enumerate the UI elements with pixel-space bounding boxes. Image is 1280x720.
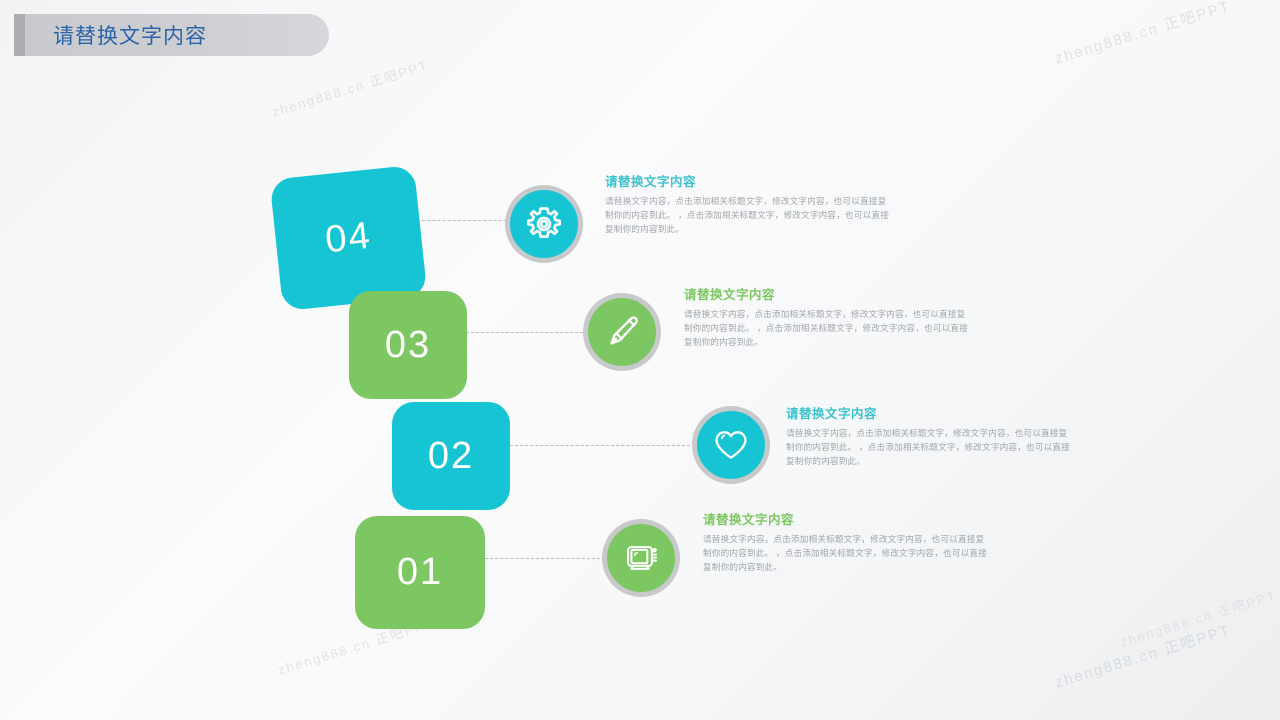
- icon-circle-01[interactable]: [602, 519, 680, 597]
- text-block-04: 请替换文字内容 请替换文字内容，点击添加相关标题文字，修改文字内容，也可以直接复…: [605, 171, 893, 237]
- step-number-04: 04: [323, 214, 374, 262]
- text-heading-03: 请替换文字内容: [684, 284, 972, 303]
- step-box-04[interactable]: 04: [269, 165, 427, 311]
- text-heading-01: 请替换文字内容: [703, 509, 991, 528]
- text-block-03: 请替换文字内容 请替换文字内容，点击添加相关标题文字，修改文字内容，也可以直接复…: [684, 284, 972, 350]
- step-number-01: 01: [397, 551, 443, 594]
- connector-line-02: [510, 445, 690, 446]
- text-body-04: 请替换文字内容，点击添加相关标题文字，修改文字内容，也可以直接复制你的内容到此。…: [605, 195, 893, 237]
- step-box-02[interactable]: 02: [392, 402, 510, 510]
- text-heading-02: 请替换文字内容: [786, 403, 1074, 422]
- icon-circle-04[interactable]: [505, 185, 583, 263]
- slide-canvas: 04 03 02 01: [0, 0, 1280, 720]
- connector-line-04: [412, 220, 517, 221]
- step-box-01[interactable]: 01: [355, 516, 485, 629]
- icon-circle-02[interactable]: [692, 406, 770, 484]
- gear-icon: [524, 204, 564, 244]
- text-body-02: 请替换文字内容，点击添加相关标题文字，修改文字内容，也可以直接复制你的内容到此。…: [786, 427, 1074, 469]
- connector-line-03: [466, 332, 588, 333]
- text-body-03: 请替换文字内容，点击添加相关标题文字，修改文字内容，也可以直接复制你的内容到此。…: [684, 308, 972, 350]
- step-box-03[interactable]: 03: [349, 291, 467, 399]
- step-number-02: 02: [428, 435, 474, 478]
- icon-circle-03[interactable]: [583, 293, 661, 371]
- text-block-01: 请替换文字内容 请替换文字内容，点击添加相关标题文字，修改文字内容，也可以直接复…: [703, 509, 991, 575]
- text-body-01: 请替换文字内容，点击添加相关标题文字，修改文字内容，也可以直接复制你的内容到此。…: [703, 533, 991, 575]
- connector-line-01: [485, 558, 605, 559]
- step-number-03: 03: [385, 324, 431, 367]
- text-block-02: 请替换文字内容 请替换文字内容，点击添加相关标题文字，修改文字内容，也可以直接复…: [786, 403, 1074, 469]
- pencil-icon: [601, 311, 643, 353]
- text-heading-04: 请替换文字内容: [605, 171, 893, 190]
- tv-icon: [621, 538, 661, 578]
- heart-icon: [710, 424, 752, 466]
